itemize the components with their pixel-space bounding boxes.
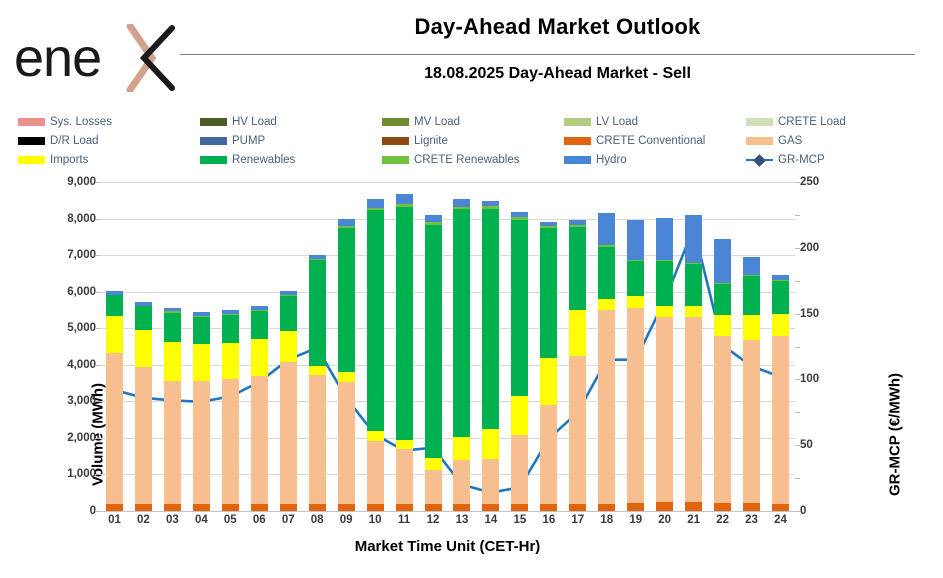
bar-segment-imports bbox=[164, 342, 181, 381]
legend-swatch-icon bbox=[200, 156, 227, 164]
bar-segment-crete-conventional bbox=[627, 503, 644, 511]
bar-segment-renewables bbox=[106, 295, 123, 315]
bar-segment-crete-conventional bbox=[743, 503, 760, 511]
bar-segment-renewables bbox=[772, 281, 789, 314]
bar-segment-hydro bbox=[193, 312, 210, 316]
y-tick-label-right: 200 bbox=[800, 242, 819, 254]
bar-segment-hydro bbox=[482, 201, 499, 206]
legend-item-label: PUMP bbox=[232, 135, 265, 147]
x-tick-label-13: 13 bbox=[449, 514, 475, 526]
x-tick-label-01: 01 bbox=[101, 514, 127, 526]
legend-item-label: CRETE Load bbox=[778, 116, 846, 128]
bar-segment-renewables bbox=[511, 220, 528, 396]
legend-item-label: MV Load bbox=[414, 116, 460, 128]
x-tick-label-08: 08 bbox=[304, 514, 330, 526]
legend-item-label: D/R Load bbox=[50, 135, 99, 147]
y-tick-mark-right-minor bbox=[795, 412, 800, 413]
legend-item-sys-losses[interactable]: Sys. Losses bbox=[18, 116, 200, 128]
x-tick-label-17: 17 bbox=[565, 514, 591, 526]
chart-legend: Sys. LossesHV LoadMV LoadLV LoadCRETE Lo… bbox=[18, 112, 928, 174]
x-tick-label-22: 22 bbox=[710, 514, 736, 526]
bar-segment-imports bbox=[106, 316, 123, 353]
bar-segment-gas bbox=[453, 460, 470, 504]
bar-segment-renewables bbox=[280, 296, 297, 331]
stacked-bar-hour-19[interactable] bbox=[627, 182, 644, 511]
bar-segment-hydro bbox=[251, 306, 268, 310]
y-tick-mark-left bbox=[95, 365, 100, 366]
legend-item-hydro[interactable]: Hydro bbox=[564, 154, 746, 166]
legend-swatch-icon bbox=[200, 137, 227, 145]
y-tick-label-right: 0 bbox=[800, 505, 806, 517]
bar-segment-crete-renewables bbox=[569, 225, 586, 227]
bar-segment-imports bbox=[714, 315, 731, 335]
y-tick-mark-right bbox=[795, 511, 800, 512]
y-tick-label-left: 3,000 bbox=[67, 395, 96, 407]
bar-segment-imports bbox=[453, 437, 470, 460]
plot-canvas bbox=[100, 182, 795, 511]
bar-segment-renewables bbox=[482, 209, 499, 429]
bar-segment-imports bbox=[251, 339, 268, 376]
x-axis-line bbox=[100, 511, 795, 512]
bar-segment-crete-conventional bbox=[453, 504, 470, 511]
stacked-bar-hour-15[interactable] bbox=[511, 182, 528, 511]
bar-segment-imports bbox=[338, 372, 355, 382]
x-tick-label-14: 14 bbox=[478, 514, 504, 526]
bar-segment-gas bbox=[396, 449, 413, 503]
title-block: Day-Ahead Market Outlook 18.08.2025 Day-… bbox=[180, 6, 935, 104]
bar-segment-hydro bbox=[453, 199, 470, 206]
bar-segment-renewables bbox=[251, 311, 268, 340]
y-tick-label-left: 5,000 bbox=[67, 322, 96, 334]
bar-segment-renewables bbox=[164, 313, 181, 343]
stacked-bar-hour-07[interactable] bbox=[280, 182, 297, 511]
bar-segment-crete-renewables bbox=[453, 207, 470, 210]
stacked-bar-hour-05[interactable] bbox=[222, 182, 239, 511]
bar-segment-hydro bbox=[656, 218, 673, 260]
bar-segment-gas bbox=[656, 317, 673, 502]
stacked-bar-hour-16[interactable] bbox=[540, 182, 557, 511]
bar-segment-crete-renewables bbox=[222, 314, 239, 315]
legend-item-label: Lignite bbox=[414, 135, 448, 147]
stacked-bar-hour-13[interactable] bbox=[453, 182, 470, 511]
x-tick-label-03: 03 bbox=[159, 514, 185, 526]
bar-segment-gas bbox=[338, 382, 355, 504]
x-tick-label-19: 19 bbox=[623, 514, 649, 526]
bar-segment-imports bbox=[396, 440, 413, 449]
bar-segment-crete-renewables bbox=[772, 280, 789, 281]
y-tick-label-right: 100 bbox=[800, 373, 819, 385]
bar-segment-renewables bbox=[743, 276, 760, 315]
bar-segment-crete-renewables bbox=[656, 260, 673, 261]
x-tick-label-18: 18 bbox=[594, 514, 620, 526]
y-tick-mark-right bbox=[795, 379, 800, 380]
bar-segment-imports bbox=[193, 344, 210, 381]
bar-segment-hydro bbox=[280, 291, 297, 295]
bar-segment-crete-conventional bbox=[714, 503, 731, 511]
y-tick-mark-left bbox=[95, 511, 100, 512]
bar-segment-gas bbox=[598, 310, 615, 503]
legend-item-gr-mcp[interactable]: GR-MCP bbox=[746, 154, 928, 166]
bar-segment-hydro bbox=[743, 257, 760, 276]
x-tick-label-15: 15 bbox=[507, 514, 533, 526]
y-axis-label-right: GR-MCP (€/MWh) bbox=[887, 330, 904, 540]
bar-segment-hydro bbox=[425, 215, 442, 222]
legend-swatch-icon bbox=[382, 137, 409, 145]
bar-segment-hydro bbox=[714, 239, 731, 283]
bar-segment-hydro bbox=[685, 215, 702, 263]
bar-segment-renewables bbox=[135, 306, 152, 329]
bar-segment-renewables bbox=[685, 264, 702, 306]
bar-segment-hydro bbox=[540, 222, 557, 226]
bar-segment-renewables bbox=[453, 209, 470, 437]
enex-logo: ene bbox=[12, 24, 177, 92]
bar-segment-hydro bbox=[106, 291, 123, 294]
bar-segment-gas bbox=[714, 336, 731, 503]
y-tick-mark-right-minor bbox=[795, 215, 800, 216]
legend-swatch-icon bbox=[382, 118, 409, 126]
bar-segment-crete-conventional bbox=[511, 504, 528, 511]
bar-segment-hydro bbox=[511, 212, 528, 217]
bar-segment-renewables bbox=[425, 225, 442, 457]
bar-segment-gas bbox=[540, 405, 557, 504]
stacked-bar-hour-12[interactable] bbox=[425, 182, 442, 511]
gr-mcp-marker-icon bbox=[746, 156, 773, 164]
bar-segment-crete-conventional bbox=[656, 502, 673, 511]
y-tick-mark-right bbox=[795, 248, 800, 249]
x-tick-label-02: 02 bbox=[130, 514, 156, 526]
x-tick-label-06: 06 bbox=[246, 514, 272, 526]
y-tick-label-left: 1,000 bbox=[67, 468, 96, 480]
bar-segment-imports bbox=[511, 396, 528, 435]
bar-segment-crete-renewables bbox=[280, 295, 297, 296]
x-tick-label-09: 09 bbox=[333, 514, 359, 526]
legend-item-renewables[interactable]: Renewables bbox=[200, 154, 382, 166]
bar-segment-gas bbox=[743, 340, 760, 504]
legend-item-crete-conventional[interactable]: CRETE Conventional bbox=[564, 135, 746, 147]
legend-swatch-icon bbox=[382, 156, 409, 164]
bar-segment-crete-renewables bbox=[743, 275, 760, 276]
stacked-bar-hour-04[interactable] bbox=[193, 182, 210, 511]
y-tick-mark-left bbox=[95, 219, 100, 220]
bar-segment-gas bbox=[251, 376, 268, 504]
bar-segment-imports bbox=[772, 314, 789, 336]
y-tick-mark-left bbox=[95, 328, 100, 329]
bar-segment-crete-conventional bbox=[135, 504, 152, 511]
bar-segment-crete-renewables bbox=[482, 206, 499, 209]
x-tick-label-23: 23 bbox=[739, 514, 765, 526]
stacked-bar-hour-02[interactable] bbox=[135, 182, 152, 511]
bar-segment-imports bbox=[309, 366, 326, 375]
y-tick-mark-left bbox=[95, 401, 100, 402]
bar-segment-crete-conventional bbox=[598, 504, 615, 511]
bar-segment-crete-renewables bbox=[396, 204, 413, 207]
bar-segment-crete-renewables bbox=[425, 222, 442, 225]
bar-segment-hydro bbox=[627, 220, 644, 259]
bar-segment-crete-conventional bbox=[685, 502, 702, 511]
stacked-bar-hour-23[interactable] bbox=[743, 182, 760, 511]
bar-segment-hydro bbox=[772, 275, 789, 280]
header-divider bbox=[180, 54, 915, 55]
stacked-bar-hour-06[interactable] bbox=[251, 182, 268, 511]
stacked-bar-hour-17[interactable] bbox=[569, 182, 586, 511]
y-tick-mark-right bbox=[795, 445, 800, 446]
bar-segment-crete-conventional bbox=[193, 504, 210, 511]
y-tick-mark-right-minor bbox=[795, 478, 800, 479]
stacked-bar-hour-21[interactable] bbox=[685, 182, 702, 511]
bar-segment-renewables bbox=[396, 207, 413, 440]
bar-segment-crete-renewables bbox=[338, 226, 355, 228]
stacked-bar-hour-10[interactable] bbox=[367, 182, 384, 511]
legend-swatch-icon bbox=[746, 137, 773, 145]
bar-segment-hydro bbox=[598, 213, 615, 245]
legend-item-label: Renewables bbox=[232, 154, 295, 166]
bar-segment-renewables bbox=[309, 260, 326, 365]
bar-segment-crete-renewables bbox=[714, 283, 731, 284]
bar-segment-gas bbox=[569, 356, 586, 504]
y-tick-mark-left bbox=[95, 182, 100, 183]
legend-swatch-icon bbox=[564, 137, 591, 145]
bar-segment-imports bbox=[656, 306, 673, 317]
bar-segment-gas bbox=[164, 381, 181, 504]
bar-segment-crete-conventional bbox=[367, 504, 384, 511]
stacked-bar-hour-14[interactable] bbox=[482, 182, 499, 511]
bar-segment-hydro bbox=[569, 220, 586, 225]
legend-item-label: CRETE Renewables bbox=[414, 154, 519, 166]
bar-segment-imports bbox=[425, 458, 442, 470]
bar-segment-crete-conventional bbox=[309, 504, 326, 511]
bar-segment-imports bbox=[685, 306, 702, 317]
x-tick-label-24: 24 bbox=[768, 514, 794, 526]
bar-segment-imports bbox=[743, 315, 760, 339]
bar-segment-imports bbox=[135, 330, 152, 367]
bar-segment-gas bbox=[106, 353, 123, 504]
y-tick-mark-right bbox=[795, 314, 800, 315]
bar-segment-renewables bbox=[540, 228, 557, 357]
x-tick-label-05: 05 bbox=[217, 514, 243, 526]
bar-segment-gas bbox=[772, 336, 789, 504]
y-tick-label-right: 50 bbox=[800, 439, 813, 451]
x-tick-label-04: 04 bbox=[188, 514, 214, 526]
gr-mcp-line bbox=[114, 228, 780, 493]
legend-item-d-r-load[interactable]: D/R Load bbox=[18, 135, 200, 147]
legend-item-label: CRETE Conventional bbox=[596, 135, 705, 147]
bar-segment-hydro bbox=[164, 308, 181, 312]
y-tick-mark-left bbox=[95, 255, 100, 256]
y-tick-mark-right-minor bbox=[795, 347, 800, 348]
bar-segment-renewables bbox=[367, 210, 384, 431]
bar-segment-gas bbox=[685, 317, 702, 502]
y-tick-mark-right-minor bbox=[795, 281, 800, 282]
bar-segment-crete-renewables bbox=[540, 226, 557, 228]
bar-segment-renewables bbox=[714, 284, 731, 315]
bar-segment-imports bbox=[367, 431, 384, 441]
x-axis-ticks: 0102030405060708091011121314151617181920… bbox=[100, 514, 795, 536]
bar-segment-crete-conventional bbox=[482, 504, 499, 511]
bar-segment-crete-renewables bbox=[627, 260, 644, 261]
bar-segment-crete-renewables bbox=[598, 245, 615, 246]
bar-segment-renewables bbox=[338, 228, 355, 372]
y-tick-mark-left bbox=[95, 292, 100, 293]
y-tick-label-left: 8,000 bbox=[67, 213, 96, 225]
y-tick-label-left: 7,000 bbox=[67, 249, 96, 261]
legend-item-crete-renewables[interactable]: CRETE Renewables bbox=[382, 154, 564, 166]
bar-segment-crete-renewables bbox=[511, 217, 528, 220]
bar-segment-renewables bbox=[598, 247, 615, 300]
bar-segment-hydro bbox=[338, 219, 355, 226]
bar-segment-crete-conventional bbox=[772, 504, 789, 511]
legend-item-hv-load[interactable]: HV Load bbox=[200, 116, 382, 128]
legend-item-lignite[interactable]: Lignite bbox=[382, 135, 564, 147]
bar-segment-imports bbox=[280, 331, 297, 362]
bar-segment-crete-conventional bbox=[540, 504, 557, 511]
legend-swatch-icon bbox=[564, 118, 591, 126]
bar-segment-gas bbox=[193, 381, 210, 503]
bar-segment-crete-renewables bbox=[193, 316, 210, 317]
bar-segment-imports bbox=[540, 358, 557, 405]
legend-swatch-icon bbox=[18, 156, 45, 164]
bar-segment-crete-conventional bbox=[396, 504, 413, 511]
bar-segment-imports bbox=[482, 429, 499, 459]
legend-item-label: GR-MCP bbox=[778, 154, 825, 166]
legend-item-label: Hydro bbox=[596, 154, 627, 166]
bar-segment-gas bbox=[280, 362, 297, 504]
x-tick-label-10: 10 bbox=[362, 514, 388, 526]
x-axis-label: Market Time Unit (CET-Hr) bbox=[100, 538, 795, 555]
stacked-bar-hour-22[interactable] bbox=[714, 182, 731, 511]
bar-segment-crete-renewables bbox=[685, 263, 702, 264]
y-axis-ticks-left: 01,0002,0003,0004,0005,0006,0007,0008,00… bbox=[30, 176, 96, 516]
svg-text:ene: ene bbox=[14, 28, 101, 88]
legend-swatch-icon bbox=[18, 137, 45, 145]
bar-segment-gas bbox=[367, 441, 384, 504]
y-tick-label-left: 6,000 bbox=[67, 286, 96, 298]
y-tick-label-right: 150 bbox=[800, 308, 819, 320]
bar-segment-gas bbox=[135, 367, 152, 504]
x-tick-label-21: 21 bbox=[681, 514, 707, 526]
bar-segment-imports bbox=[598, 299, 615, 310]
bar-segment-crete-renewables bbox=[309, 259, 326, 260]
legend-swatch-icon bbox=[18, 118, 45, 126]
bar-segment-crete-conventional bbox=[164, 504, 181, 511]
stacked-bar-hour-24[interactable] bbox=[772, 182, 789, 511]
bar-segment-gas bbox=[627, 308, 644, 503]
bar-segment-crete-conventional bbox=[280, 504, 297, 511]
bar-segment-hydro bbox=[222, 310, 239, 314]
x-tick-label-16: 16 bbox=[536, 514, 562, 526]
legend-item-imports[interactable]: Imports bbox=[18, 154, 200, 166]
bar-segment-crete-conventional bbox=[425, 504, 442, 511]
y-tick-label-right: 250 bbox=[800, 176, 819, 188]
bar-segment-imports bbox=[222, 343, 239, 380]
legend-swatch-icon bbox=[564, 156, 591, 164]
bar-segment-crete-renewables bbox=[367, 208, 384, 211]
legend-swatch-icon bbox=[200, 118, 227, 126]
bar-segment-crete-conventional bbox=[251, 504, 268, 511]
legend-item-label: Sys. Losses bbox=[50, 116, 112, 128]
chart-plot-area: Volume (MWh) GR-MCP (€/MWh) 01,0002,0003… bbox=[0, 176, 943, 578]
x-tick-label-12: 12 bbox=[420, 514, 446, 526]
x-tick-label-11: 11 bbox=[391, 514, 417, 526]
y-tick-mark-right bbox=[795, 182, 800, 183]
bar-segment-crete-conventional bbox=[222, 504, 239, 511]
bar-segment-crete-conventional bbox=[106, 504, 123, 511]
page-subtitle: 18.08.2025 Day-Ahead Market - Sell bbox=[180, 40, 935, 83]
bar-segment-gas bbox=[309, 375, 326, 504]
page-header: ene Day-Ahead Market Outlook 18.08.2025 … bbox=[0, 0, 943, 105]
y-tick-mark-left bbox=[95, 438, 100, 439]
stacked-bar-hour-11[interactable] bbox=[396, 182, 413, 511]
bar-segment-renewables bbox=[193, 317, 210, 344]
legend-item-label: HV Load bbox=[232, 116, 277, 128]
stacked-bar-hour-18[interactable] bbox=[598, 182, 615, 511]
bar-segment-imports bbox=[627, 296, 644, 308]
bar-segment-hydro bbox=[396, 194, 413, 204]
legend-item-mv-load[interactable]: MV Load bbox=[382, 116, 564, 128]
legend-item-pump[interactable]: PUMP bbox=[200, 135, 382, 147]
page-title: Day-Ahead Market Outlook bbox=[180, 6, 935, 40]
stacked-bar-hour-01[interactable] bbox=[106, 182, 123, 511]
y-tick-label-left: 2,000 bbox=[67, 432, 96, 444]
x-tick-label-07: 07 bbox=[275, 514, 301, 526]
bar-segment-crete-renewables bbox=[164, 311, 181, 312]
bar-segment-gas bbox=[425, 470, 442, 504]
legend-item-gas[interactable]: GAS bbox=[746, 135, 928, 147]
stacked-bar-hour-03[interactable] bbox=[164, 182, 181, 511]
y-tick-label-left: 9,000 bbox=[67, 176, 96, 188]
bar-segment-hydro bbox=[367, 199, 384, 208]
y-tick-mark-left bbox=[95, 474, 100, 475]
bar-segment-renewables bbox=[222, 315, 239, 343]
bar-segment-hydro bbox=[309, 255, 326, 259]
legend-item-crete-load[interactable]: CRETE Load bbox=[746, 116, 928, 128]
stacked-bar-hour-08[interactable] bbox=[309, 182, 326, 511]
bar-segment-imports bbox=[569, 310, 586, 356]
legend-item-label: Imports bbox=[50, 154, 88, 166]
legend-item-label: GAS bbox=[778, 135, 802, 147]
bar-segment-hydro bbox=[135, 302, 152, 305]
bar-segment-crete-conventional bbox=[338, 504, 355, 511]
bar-segment-crete-conventional bbox=[569, 504, 586, 511]
y-tick-label-left: 4,000 bbox=[67, 359, 96, 371]
bar-segment-gas bbox=[511, 435, 528, 503]
legend-item-label: LV Load bbox=[596, 116, 638, 128]
bar-segment-renewables bbox=[627, 261, 644, 296]
legend-swatch-icon bbox=[746, 118, 773, 126]
bar-segment-gas bbox=[222, 379, 239, 503]
bar-segment-renewables bbox=[656, 261, 673, 306]
bar-segment-gas bbox=[482, 459, 499, 504]
stacked-bar-hour-09[interactable] bbox=[338, 182, 355, 511]
x-tick-label-20: 20 bbox=[652, 514, 678, 526]
bar-segment-crete-renewables bbox=[251, 310, 268, 311]
stacked-bar-hour-20[interactable] bbox=[656, 182, 673, 511]
bar-segment-renewables bbox=[569, 227, 586, 310]
y-axis-ticks-right: 050100150200250 bbox=[800, 176, 860, 516]
legend-item-lv-load[interactable]: LV Load bbox=[564, 116, 746, 128]
